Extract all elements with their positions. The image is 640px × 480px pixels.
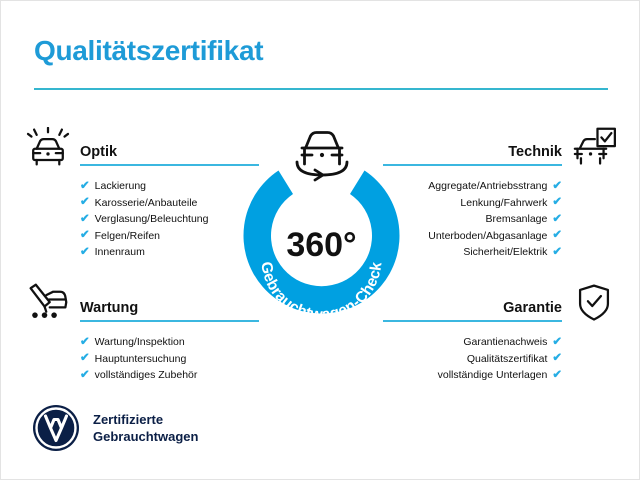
list-item-label: Garantienachweis — [463, 334, 547, 351]
section-optik-header: Optik — [23, 127, 259, 169]
section-garantie-header: Garantie — [383, 283, 619, 325]
list-item: ✔Sicherheit/Elektrik — [383, 244, 619, 261]
check-icon: ✔ — [552, 181, 562, 193]
list-item-label: Aggregate/Antriebsstrang — [428, 178, 547, 195]
section-optik-list: ✔Lackierung ✔Karosserie/Anbauteile ✔Verg… — [23, 169, 259, 261]
list-item-label: Innenraum — [95, 244, 145, 261]
list-item-label: Lenkung/Fahrwerk — [460, 195, 547, 212]
section-garantie: Garantie ✔Garantienachweis ✔Qualitätszer… — [383, 283, 619, 384]
list-item-label: Karosserie/Anbauteile — [95, 195, 198, 212]
list-item-label: Qualitätszertifikat — [467, 351, 548, 368]
check-icon: ✔ — [80, 214, 90, 226]
check-icon: ✔ — [552, 197, 562, 209]
section-technik-title: Technik — [508, 144, 562, 160]
list-item-label: Verglasung/Beleuchtung — [95, 211, 209, 228]
section-wartung-title: Wartung — [80, 300, 138, 316]
check-icon: ✔ — [552, 214, 562, 226]
list-item-label: Lackierung — [95, 178, 146, 195]
footer-brand: Zertifizierte Gebrauchtwagen — [31, 403, 198, 453]
section-technik-header: Technik — [383, 127, 619, 169]
list-item: ✔vollständige Unterlagen — [383, 367, 619, 384]
check-icon: ✔ — [80, 197, 90, 209]
title-divider — [34, 88, 608, 90]
list-item: ✔Aggregate/Antriebsstrang — [383, 178, 619, 195]
list-item: ✔Lenkung/Fahrwerk — [383, 195, 619, 212]
check-icon: ✔ — [80, 353, 90, 365]
list-item-label: Felgen/Reifen — [95, 228, 160, 245]
shield-check-icon — [571, 283, 617, 323]
pen-car-service-icon — [25, 283, 71, 323]
list-item: ✔Verglasung/Beleuchtung — [23, 211, 259, 228]
check-icon: ✔ — [552, 337, 562, 349]
list-item-label: vollständiges Zubehör — [95, 367, 198, 384]
section-technik: Technik ✔Aggregate/Antriebsstrang ✔Lenku… — [383, 127, 619, 261]
volkswagen-logo — [31, 403, 81, 453]
list-item: ✔Unterboden/Abgasanlage — [383, 228, 619, 245]
car-rotate-icon — [282, 125, 362, 183]
list-item: ✔Qualitätszertifikat — [383, 351, 619, 368]
list-item: ✔Hauptuntersuchung — [23, 351, 259, 368]
list-item-label: vollständige Unterlagen — [438, 367, 548, 384]
list-item-label: Wartung/Inspektion — [95, 334, 185, 351]
list-item-label: Hauptuntersuchung — [95, 351, 187, 368]
section-garantie-list: ✔Garantienachweis ✔Qualitätszertifikat ✔… — [383, 325, 619, 384]
car-shine-icon — [25, 127, 71, 167]
section-wartung: Wartung ✔Wartung/Inspektion ✔Hauptunters… — [23, 283, 259, 384]
check-icon: ✔ — [552, 247, 562, 259]
list-item: ✔vollständiges Zubehör — [23, 367, 259, 384]
certificate-page: Qualitätszertifikat Optik — [0, 0, 640, 480]
footer-text: Zertifizierte Gebrauchtwagen — [93, 411, 198, 445]
page-title: Qualitätszertifikat — [34, 35, 263, 67]
section-wartung-header: Wartung — [23, 283, 259, 325]
section-optik-title: Optik — [80, 144, 117, 160]
badge-center-label: 360° — [286, 226, 356, 264]
check-icon: ✔ — [80, 230, 90, 242]
list-item: ✔Wartung/Inspektion — [23, 334, 259, 351]
car-checkbox-icon — [571, 127, 617, 167]
check-icon: ✔ — [80, 247, 90, 259]
list-item: ✔Bremsanlage — [383, 211, 619, 228]
section-technik-list: ✔Aggregate/Antriebsstrang ✔Lenkung/Fahrw… — [383, 169, 619, 261]
section-optik: Optik ✔Lackierung ✔Karosserie/Anbauteile… — [23, 127, 259, 261]
list-item: ✔Innenraum — [23, 244, 259, 261]
check-icon: ✔ — [80, 337, 90, 349]
check-icon: ✔ — [80, 370, 90, 382]
list-item: ✔Garantienachweis — [383, 334, 619, 351]
list-item: ✔Karosserie/Anbauteile — [23, 195, 259, 212]
check-icon: ✔ — [552, 353, 562, 365]
section-garantie-title: Garantie — [503, 300, 562, 316]
check-icon: ✔ — [552, 230, 562, 242]
right-column: Technik ✔Aggregate/Antriebsstrang ✔Lenku… — [383, 127, 619, 384]
list-item-label: Unterboden/Abgasanlage — [428, 228, 547, 245]
check-icon: ✔ — [80, 181, 90, 193]
list-item-label: Bremsanlage — [485, 211, 547, 228]
list-item: ✔Lackierung — [23, 178, 259, 195]
section-wartung-list: ✔Wartung/Inspektion ✔Hauptuntersuchung ✔… — [23, 325, 259, 384]
list-item: ✔Felgen/Reifen — [23, 228, 259, 245]
check-icon: ✔ — [552, 370, 562, 382]
list-item-label: Sicherheit/Elektrik — [463, 244, 547, 261]
left-column: Optik ✔Lackierung ✔Karosserie/Anbauteile… — [23, 127, 259, 384]
